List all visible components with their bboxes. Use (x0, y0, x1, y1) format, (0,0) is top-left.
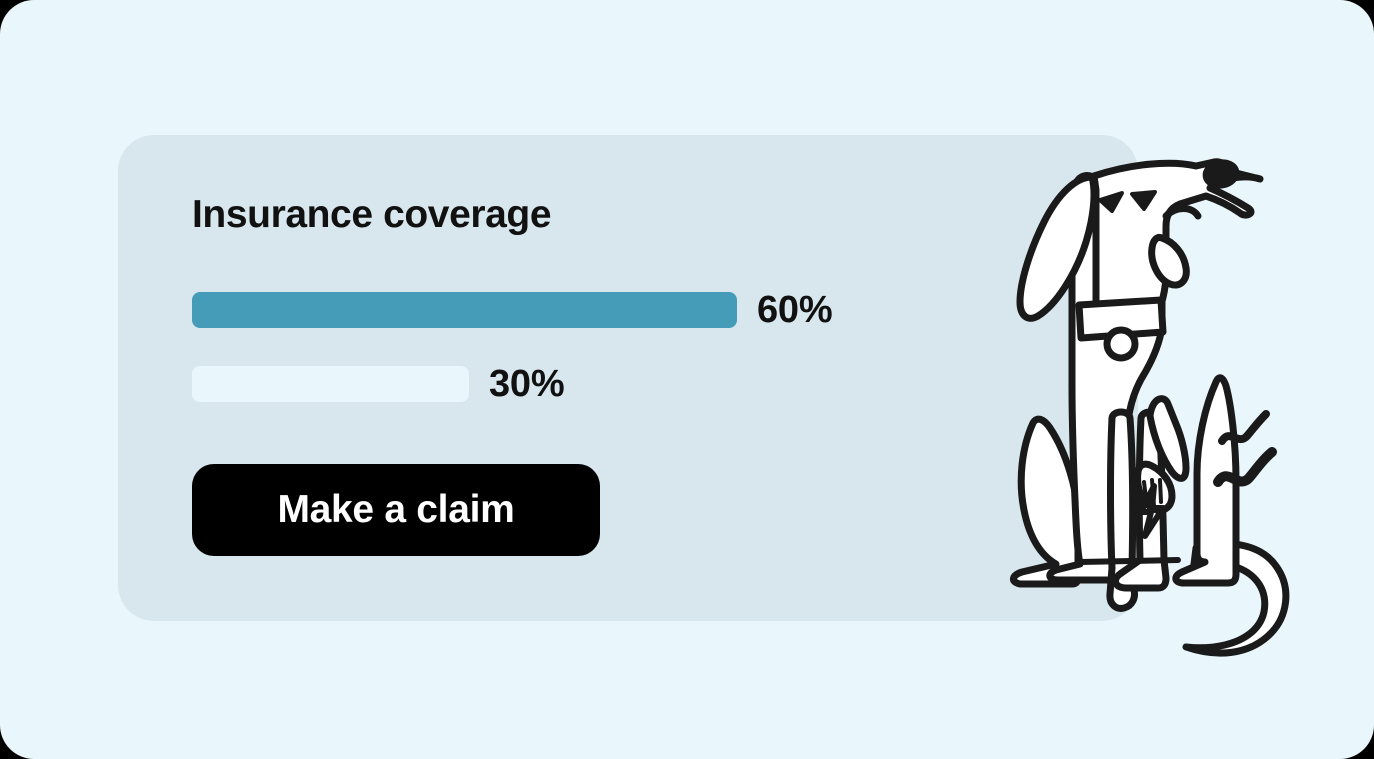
dog-mouth-icon (1166, 209, 1198, 217)
dog-scratching-paw-icon (1150, 399, 1186, 479)
coverage-bar-secondary (192, 366, 469, 402)
page-frame: Insurance coverage 60% 30% Make a claim (0, 0, 1374, 759)
dog-hind-leg-right (1176, 378, 1236, 583)
progress-row-primary: 60% (192, 292, 832, 328)
progress-row-secondary: 30% (192, 366, 564, 402)
dog-tongue-icon (1152, 237, 1187, 285)
coverage-bar-primary (192, 292, 737, 328)
page-title: Insurance coverage (192, 190, 551, 240)
itch-lightning-bolt-icon (1141, 486, 1163, 536)
itch-squiggle-upper-icon (1222, 414, 1266, 441)
dog-scratching-paw-toes-icon (1138, 464, 1172, 510)
dog-nose-icon (1203, 159, 1239, 188)
coverage-bar-secondary-label: 30% (489, 366, 564, 402)
itch-squiggle-lower-icon (1218, 452, 1272, 482)
dog-paw-claw-lines-icon (1144, 480, 1161, 506)
make-a-claim-button[interactable]: Make a claim (192, 464, 600, 556)
dog-tail-icon (1186, 544, 1286, 653)
coverage-bar-primary-label: 60% (757, 292, 832, 328)
